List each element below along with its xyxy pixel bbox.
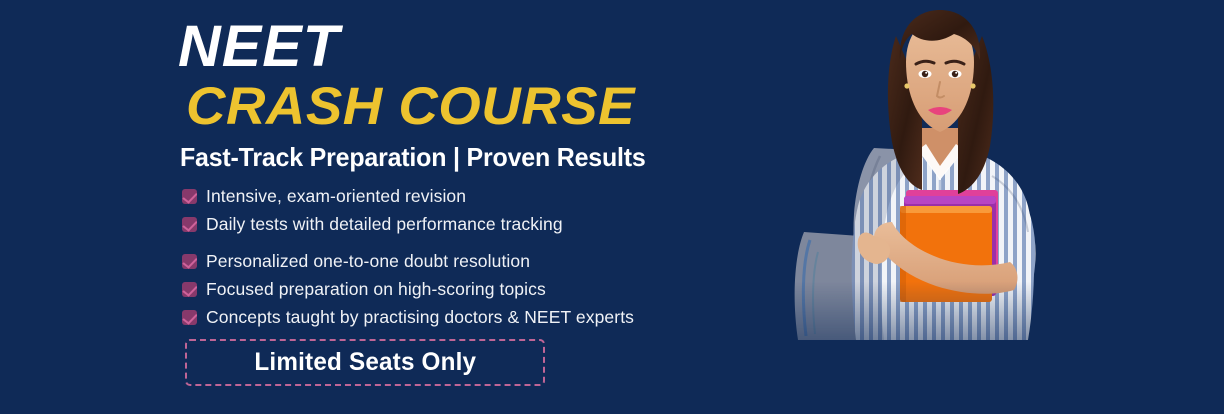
check-badge-icon xyxy=(182,282,197,297)
limited-seats-cta-button[interactable]: Limited Seats Only xyxy=(185,339,545,386)
feature-label: Focused preparation on high-scoring topi… xyxy=(206,279,546,300)
student-photo xyxy=(788,0,1088,414)
banner-content: NEET CRASH COURSE Fast-Track Preparation… xyxy=(178,0,838,414)
feature-list: Intensive, exam-oriented revision Daily … xyxy=(182,182,802,331)
list-item: Concepts taught by practising doctors & … xyxy=(182,303,802,331)
feature-label: Personalized one-to-one doubt resolution xyxy=(206,251,530,272)
list-item: Intensive, exam-oriented revision xyxy=(182,182,802,210)
check-badge-icon xyxy=(182,310,197,325)
headline-neet: NEET xyxy=(178,18,340,76)
check-badge-icon xyxy=(182,254,197,269)
list-item: Daily tests with detailed performance tr… xyxy=(182,210,802,238)
list-item: Personalized one-to-one doubt resolution xyxy=(182,247,802,275)
check-badge-icon xyxy=(182,189,197,204)
neet-crash-course-banner: NEET CRASH COURSE Fast-Track Preparation… xyxy=(0,0,1224,414)
feature-label: Intensive, exam-oriented revision xyxy=(206,186,466,207)
check-badge-icon xyxy=(182,217,197,232)
list-item: Focused preparation on high-scoring topi… xyxy=(182,275,802,303)
tagline: Fast-Track Preparation | Proven Results xyxy=(180,142,646,173)
feature-label: Daily tests with detailed performance tr… xyxy=(206,214,563,235)
cta-label: Limited Seats Only xyxy=(254,348,476,377)
feature-label: Concepts taught by practising doctors & … xyxy=(206,307,634,328)
headline-crash-course: CRASH COURSE xyxy=(186,80,635,133)
